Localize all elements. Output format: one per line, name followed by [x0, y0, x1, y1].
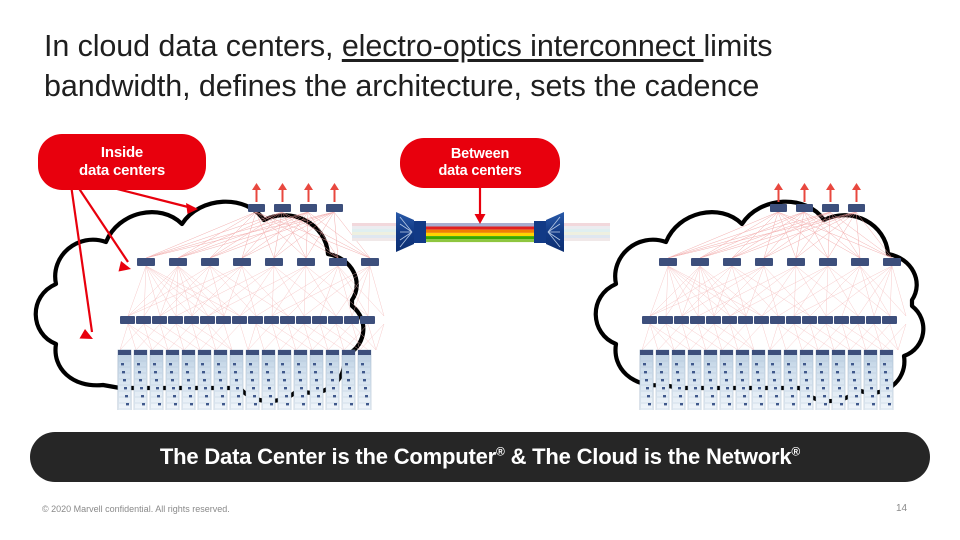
tagline-part-b: & The Cloud is the Network: [505, 444, 792, 469]
registered-mark-b: ®: [791, 445, 800, 459]
copyright-footer: © 2020 Marvell confidential. All rights …: [42, 504, 230, 514]
title-underlined-phrase: electro-optics interconnect: [342, 29, 704, 63]
page-number: 14: [896, 503, 907, 514]
registered-mark-a: ®: [496, 445, 505, 459]
page-title: In cloud data centers, electro-optics in…: [44, 26, 924, 107]
callout-inside-line2: data centers: [79, 162, 165, 179]
optical-connector-right: [534, 212, 564, 252]
slide-root: In cloud data centers, electro-optics in…: [0, 0, 960, 540]
title-part1: In cloud data centers,: [44, 29, 342, 63]
tagline-banner: The Data Center is the Computer® & The C…: [30, 432, 930, 482]
callout-between-line2: data centers: [438, 163, 521, 179]
callout-inside-line1: Inside: [101, 144, 143, 161]
callout-inside-data-centers[interactable]: Inside data centers: [38, 134, 206, 190]
tagline-text: The Data Center is the Computer® & The C…: [160, 444, 800, 470]
tagline-part-a: The Data Center is the Computer: [160, 444, 496, 469]
wdm-fiber: [424, 223, 536, 242]
callout-between-data-centers[interactable]: Between data centers: [400, 138, 560, 188]
optical-connector-left: [396, 212, 426, 252]
callout-between-line1: Between: [451, 146, 509, 162]
